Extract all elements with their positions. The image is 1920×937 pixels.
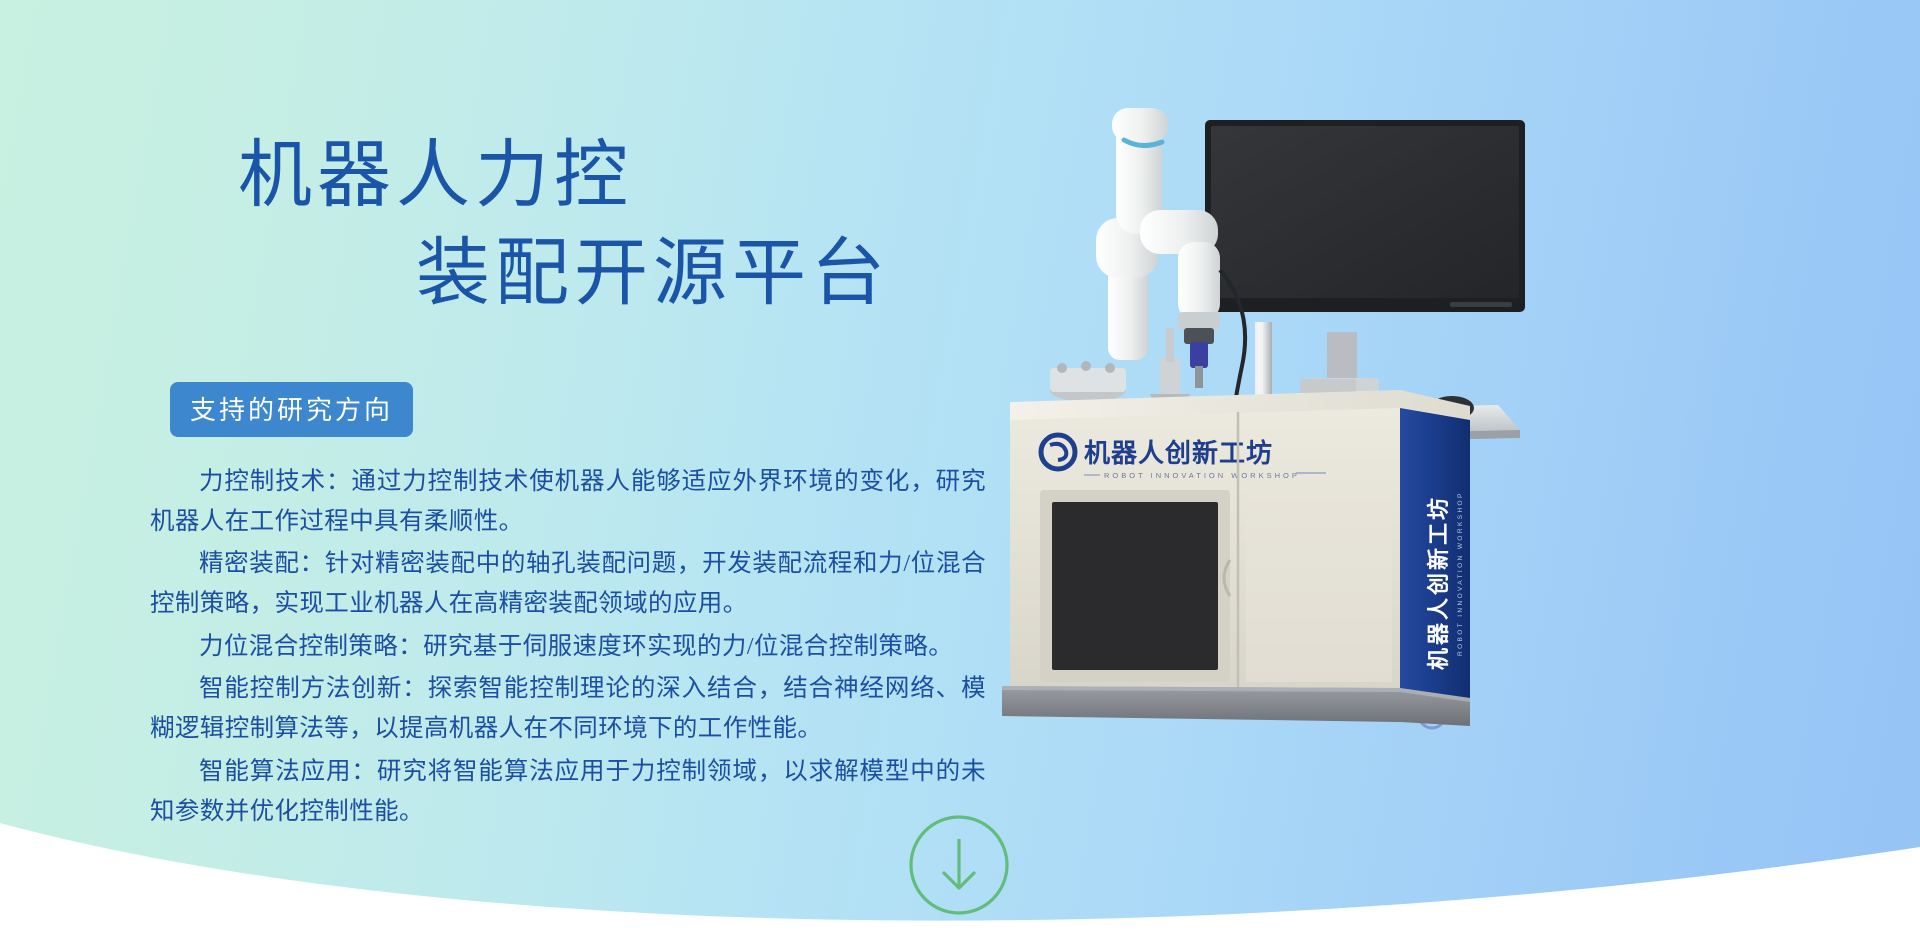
hero-title-line-1: 机器人力控	[0, 128, 1000, 226]
machine-illustration: 机器人创新工坊 ROBOT INNOVATION WORKSHOP 机器人创新工…	[1000, 90, 1860, 770]
brand-en-text: ROBOT INNOVATION WORKSHOP	[1104, 471, 1300, 480]
research-item-intelligent-control: 智能控制方法创新：探索智能控制理论的深入结合，结合神经网络、模糊逻辑控制算法等，…	[150, 669, 986, 748]
research-item-force-control: 力控制技术：通过力控制技术使机器人能够适应外界环境的变化，研究机器人在工作过程中…	[150, 462, 986, 541]
side-panel-cn-text: 机器人创新工坊	[1426, 495, 1451, 670]
hero-title-line-2: 装配开源平台	[0, 226, 1000, 324]
research-item-hybrid-control: 力位混合控制策略：研究基于伺服速度环实现的力/位混合控制策略。	[150, 627, 986, 667]
research-item-intelligent-algorithm: 智能算法应用：研究将智能算法应用于力控制领域，以求解模型中的未知参数并优化控制性…	[150, 752, 986, 831]
cabinet-base	[1002, 686, 1470, 726]
display-monitor	[1205, 120, 1525, 400]
research-directions-list: 力控制技术：通过力控制技术使机器人能够适应外界环境的变化，研究机器人在工作过程中…	[150, 462, 986, 834]
research-directions-badge: 支持的研究方向	[170, 382, 413, 437]
cabinet-side-panel: 机器人创新工坊 ROBOT INNOVATION WORKSHOP	[1400, 408, 1470, 728]
research-directions-badge-wrap: 支持的研究方向	[170, 382, 413, 437]
research-item-precision-assembly: 精密装配：针对精密装配中的轴孔装配问题，开发装配流程和力/位混合控制策略，实现工…	[150, 544, 986, 623]
side-panel-en-text: ROBOT INNOVATION WORKSHOP	[1457, 491, 1464, 656]
hero-banner: 机器人创新工坊 ROBOT INNOVATION WORKSHOP 机器人创新工…	[0, 0, 1920, 937]
brand-cn-text: 机器人创新工坊	[1084, 438, 1273, 468]
equipment-cabinet: 机器人创新工坊 ROBOT INNOVATION WORKSHOP	[1010, 408, 1400, 690]
inspection-window	[1052, 502, 1218, 670]
hero-title: 机器人力控 装配开源平台	[0, 128, 1000, 323]
scroll-down-button[interactable]	[902, 808, 1016, 922]
hero-content: 机器人力控 装配开源平台 支持的研究方向 力控制技术：通过力控制技术使机器人能够…	[0, 0, 1000, 937]
